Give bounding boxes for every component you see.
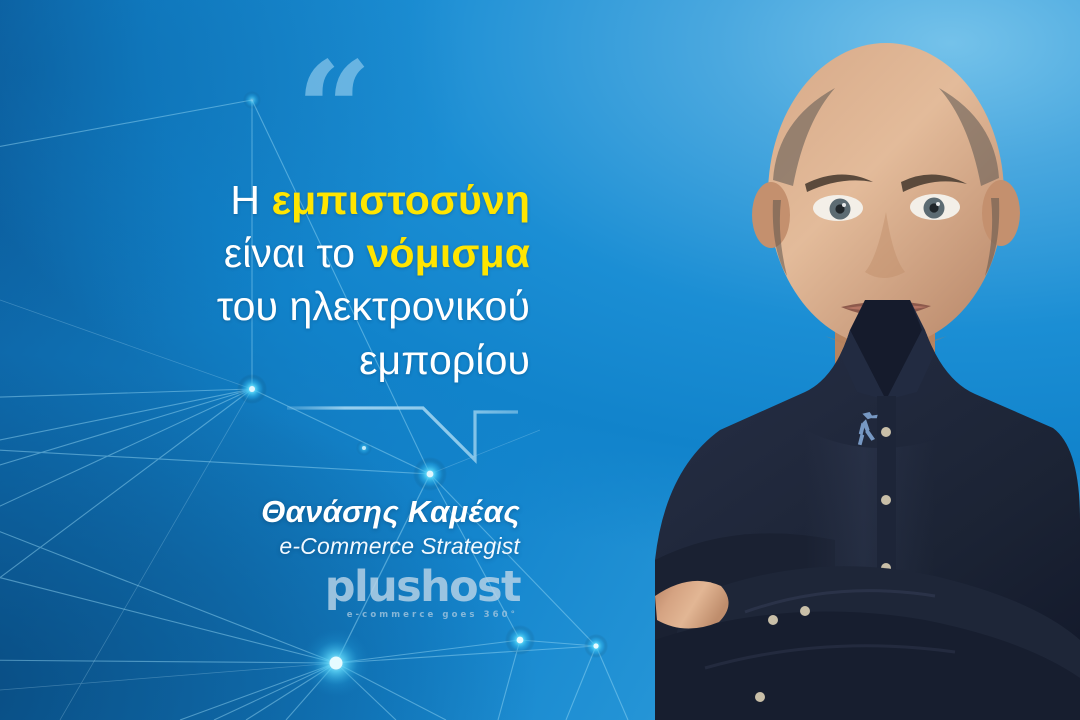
- quote-mark-icon: “: [60, 70, 530, 152]
- quote-seg: Η: [230, 177, 271, 223]
- quote-text: Η εμπιστοσύνη είναι το νόμισμα του ηλεκτ…: [60, 174, 530, 387]
- quote-line-3: του ηλεκτρονικού: [60, 280, 530, 333]
- portrait-photo: [505, 0, 1080, 720]
- zigzag-divider: [285, 398, 520, 470]
- brand-logo-wordmark: plushost: [300, 566, 520, 609]
- speaker-role: e-Commerce Strategist: [120, 533, 520, 560]
- quote-line-4: εμπορίου: [60, 334, 530, 387]
- quote-card: “ Η εμπιστοσύνη είναι το νόμισμα του ηλε…: [0, 0, 1080, 720]
- speaker-name: Θανάσης Καμέας: [120, 495, 520, 530]
- brand-logo-tagline: e-commerce goes 360°: [300, 610, 520, 620]
- quote-line-2: είναι το νόμισμα: [60, 227, 530, 280]
- quote-highlight: νόμισμα: [367, 230, 530, 276]
- attribution-block: Θανάσης Καμέας e-Commerce Strategist: [120, 495, 520, 560]
- quote-line-1: Η εμπιστοσύνη: [60, 174, 530, 227]
- brand-logo: plushost e-commerce goes 360°: [300, 566, 520, 624]
- quote-block: “ Η εμπιστοσύνη είναι το νόμισμα του ηλε…: [60, 70, 530, 387]
- quote-seg: είναι το: [224, 230, 367, 276]
